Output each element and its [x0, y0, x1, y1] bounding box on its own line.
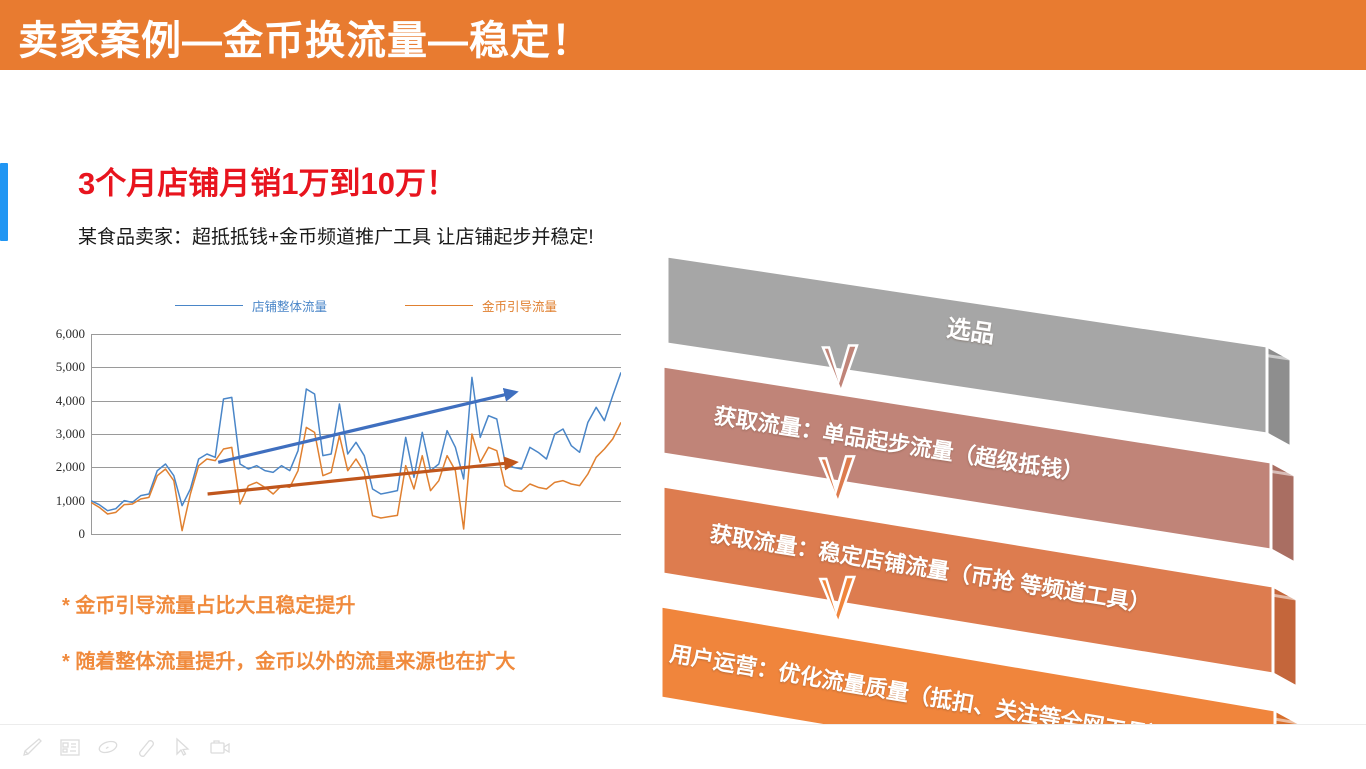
annotation-toolbar — [0, 724, 1366, 769]
process-band-diagram: 选品 获取流量：单品起步流量（超级抵钱） 获取流量：稳定店铺流量（币抢 等频道工… — [655, 248, 1355, 748]
legend-swatch-orange — [405, 305, 473, 306]
subheadline-text: 某食品卖家：超抵抵钱+金币频道推广工具 让店铺起步并稳定! — [78, 222, 594, 249]
page-title: 卖家案例—金币换流量—稳定！ — [18, 8, 592, 66]
pen-icon[interactable] — [18, 733, 46, 761]
band-side-face — [1273, 586, 1297, 687]
band-diagram-shapes — [655, 248, 1355, 748]
legend-item-coin-traffic: 金币引导流量 — [405, 296, 557, 315]
band-side-face — [1267, 346, 1291, 447]
headline-text: 3个月店铺月销1万到10万！ — [78, 158, 457, 203]
chart-series-layer — [91, 334, 621, 534]
camera-icon[interactable] — [206, 733, 234, 761]
gridline — [91, 534, 621, 535]
chart-line-shop-traffic — [91, 372, 621, 510]
y-axis-tick-label: 4,000 — [56, 393, 85, 409]
chart-plot-area: 01,0002,0003,0004,0005,0006,000 — [91, 334, 621, 534]
slide-header-bar: 卖家案例—金币换流量—稳定！ — [0, 0, 1366, 70]
legend-item-shop-traffic: 店铺整体流量 — [175, 296, 327, 315]
traffic-line-chart: 店铺整体流量 金币引导流量 01,0002,0003,0004,0005,000… — [55, 292, 630, 552]
legend-label-shop-traffic: 店铺整体流量 — [252, 296, 327, 315]
y-axis-tick-label: 5,000 — [56, 359, 85, 375]
bullet-point-2: * 随着整体流量提升，金币以外的流量来源也在扩大 — [62, 645, 515, 674]
bullet-point-1: * 金币引导流量占比大且稳定提升 — [62, 589, 355, 618]
eraser-icon[interactable] — [132, 733, 160, 761]
band-side-face — [1271, 462, 1295, 563]
legend-swatch-blue — [175, 305, 243, 306]
y-axis-tick-label: 3,000 — [56, 426, 85, 442]
y-axis-tick-label: 2,000 — [56, 459, 85, 475]
chart-line-coin-traffic — [91, 422, 621, 530]
y-axis-tick-label: 6,000 — [56, 326, 85, 342]
screenshot-icon[interactable] — [56, 733, 84, 761]
chart-legend: 店铺整体流量 金币引导流量 — [115, 292, 635, 318]
pointer-icon[interactable] — [168, 733, 196, 761]
legend-label-coin-traffic: 金币引导流量 — [482, 296, 557, 315]
highlighter-icon[interactable] — [94, 733, 122, 761]
y-axis-tick-label: 0 — [79, 526, 86, 542]
y-axis-tick-label: 1,000 — [56, 493, 85, 509]
left-edge-marker — [0, 163, 8, 241]
